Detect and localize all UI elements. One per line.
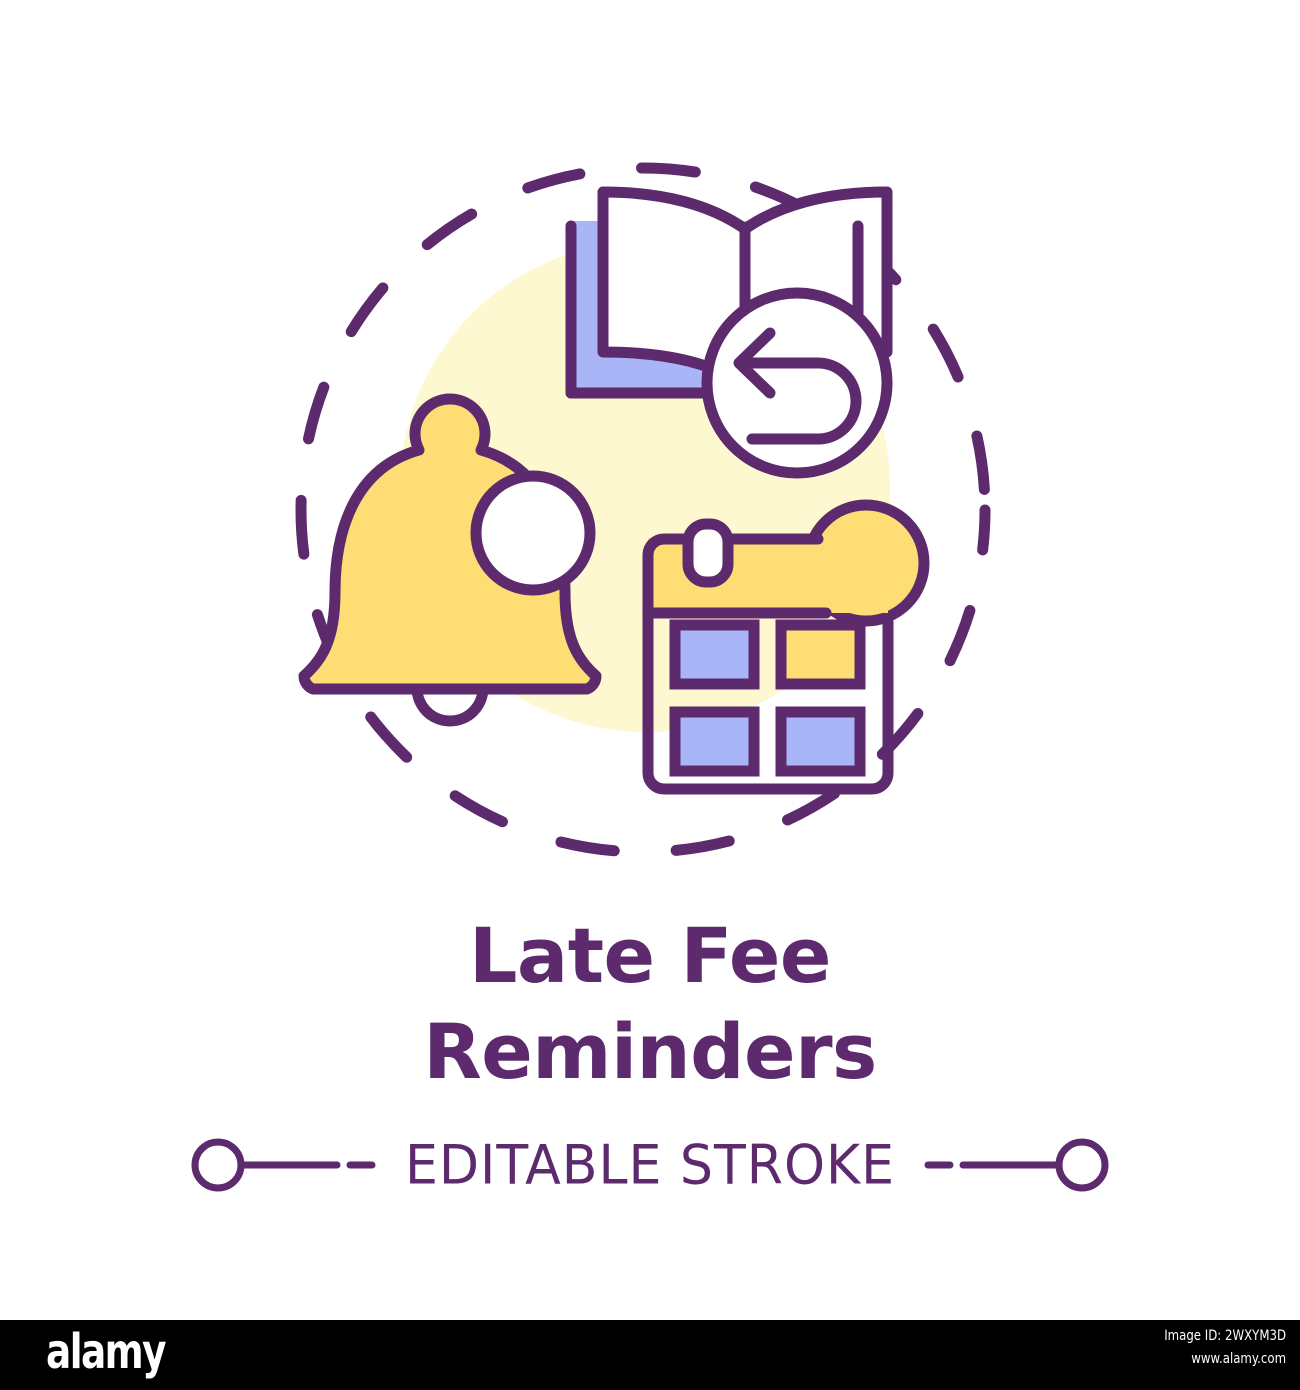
calendar-tab [688, 524, 728, 582]
editable-stroke-bar: EDITABLE STROKE [0, 1120, 1300, 1210]
return-arrow-circle-icon [707, 293, 887, 473]
footer-meta: Image ID: 2WXYM3D www.alamy.com [1164, 1325, 1286, 1371]
image-id-label: Image ID: 2WXYM3D [1164, 1325, 1286, 1348]
page-title-line-2: Reminders [0, 1004, 1300, 1100]
stroke-bar-left-circle-icon [195, 1142, 241, 1188]
website-label: www.alamy.com [1164, 1348, 1286, 1371]
alamy-logo: alamy [46, 1324, 165, 1380]
calendar-cell-1 [675, 625, 754, 684]
calendar-cell-2 [781, 625, 860, 684]
stroke-bar-right-circle-icon [1059, 1142, 1105, 1188]
calendar-cell-4 [781, 712, 860, 771]
calendar-cell-3 [675, 712, 754, 771]
page-title: Late Fee Reminders [0, 908, 1300, 1100]
concept-illustration [0, 0, 1300, 900]
watermark-footer: alamy Image ID: 2WXYM3D www.alamy.com [0, 1320, 1300, 1390]
page-root: Late Fee Reminders EDITABLE STROKE alamy… [0, 0, 1300, 1390]
return-circle-background [707, 293, 887, 473]
calendar-icon [648, 505, 924, 789]
page-title-line-1: Late Fee [0, 908, 1300, 1004]
bell-badge-circle [476, 476, 590, 590]
stroke-bar-label: EDITABLE STROKE [405, 1134, 895, 1197]
